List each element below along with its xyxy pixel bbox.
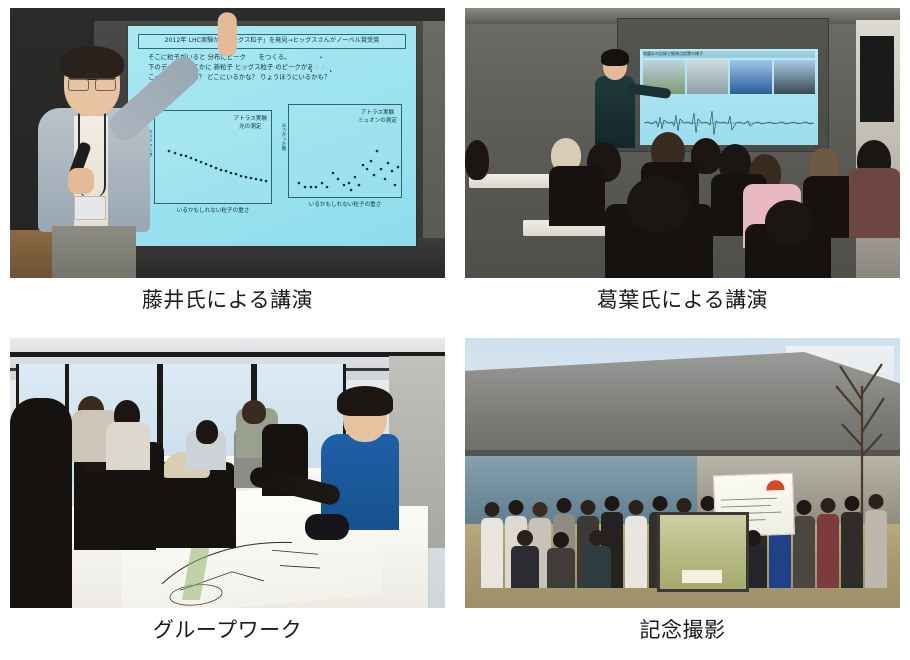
slide-thumb-3 <box>730 60 772 94</box>
figure-cell-2: 地震計の記録と観測点設置の様子 <box>455 0 910 330</box>
glasses-icon <box>68 78 116 90</box>
person <box>625 500 647 588</box>
participant-head <box>242 400 266 424</box>
speaker-kuzuha <box>593 52 641 148</box>
participant-foreground-left <box>10 398 72 608</box>
speaker-pointing-hand <box>218 12 237 56</box>
person <box>841 496 863 588</box>
slide-title: 2012年 LHC実験が「ヒッグス粒子」を発見→ヒッグスさんがノーベル賞受賞 <box>138 34 406 49</box>
figure-cell-3: グループワーク <box>0 330 455 660</box>
chart-points-muon <box>289 105 401 197</box>
person <box>865 494 887 588</box>
photo-group-shot <box>465 338 900 608</box>
figure-cell-4: 記念撮影 <box>455 330 910 660</box>
slide-thumb-2 <box>687 60 729 94</box>
photo-kuzuha-lecture: 地震計の記録と観測点設置の様子 <box>465 8 900 278</box>
model-label <box>682 570 722 583</box>
group-of-participants <box>479 456 890 588</box>
terrain-model-panel <box>657 512 749 592</box>
name-badge <box>74 196 106 220</box>
participant-head <box>196 420 218 444</box>
person-crouching <box>547 532 575 588</box>
speaker-hair-2 <box>601 49 629 66</box>
ceiling-beam <box>10 352 445 357</box>
audience-head <box>465 140 489 180</box>
chart-xlabel-muon: いるかもしれない粒子の重さ <box>289 200 401 208</box>
peak-sketch-icon <box>310 56 332 72</box>
speaker-trousers <box>52 226 136 278</box>
slide-title-2: 地震計の記録と観測点設置の様子 <box>643 51 815 58</box>
figure-caption-2: 葛葉氏による講演 <box>597 288 768 313</box>
audience-head <box>627 176 689 232</box>
speaker-hair <box>60 46 124 80</box>
figure-grid-page: 2012年 LHC実験が「ヒッグス粒子」を発見→ヒッグスさんがノーベル賞受賞 そ… <box>0 0 910 660</box>
person <box>793 500 815 588</box>
chart-ylabel-muon: みつかった数 <box>280 123 286 151</box>
audience-body <box>849 168 900 238</box>
equipment-rack <box>860 36 894 122</box>
speaker-mic-hand <box>68 168 94 194</box>
figure-caption-3: グループワーク <box>153 618 302 643</box>
audience-body <box>549 166 605 226</box>
audience-head <box>765 200 813 244</box>
photo-fujii-lecture: 2012年 LHC実験が「ヒッグス粒子」を発見→ヒッグスさんがノーベル賞受賞 そ… <box>10 8 445 278</box>
slide-thumb-4 <box>774 60 816 94</box>
figure-cell-1: 2012年 LHC実験が「ヒッグス粒子」を発見→ヒッグスさんがノーベル賞受賞 そ… <box>0 0 455 330</box>
figure-caption-1: 藤井氏による講演 <box>142 288 313 313</box>
figure-caption-4: 記念撮影 <box>640 618 726 643</box>
person <box>817 498 839 588</box>
person <box>481 502 503 588</box>
facilitator-hair <box>337 386 393 416</box>
slide-chart-muon: アトラス実験 ミュオンの測定 みつかった数 いるかもしれない粒子の重さ <box>288 104 402 198</box>
participant-standing <box>106 422 150 470</box>
photo-grid: 2012年 LHC実験が「ヒッグス粒子」を発見→ヒッグスさんがノーベル賞受賞 そ… <box>0 0 910 660</box>
photo-group-work <box>10 338 445 608</box>
person-crouching <box>583 530 611 588</box>
person-crouching <box>511 530 539 588</box>
bag <box>305 514 349 540</box>
speaker-fujii <box>30 50 190 278</box>
